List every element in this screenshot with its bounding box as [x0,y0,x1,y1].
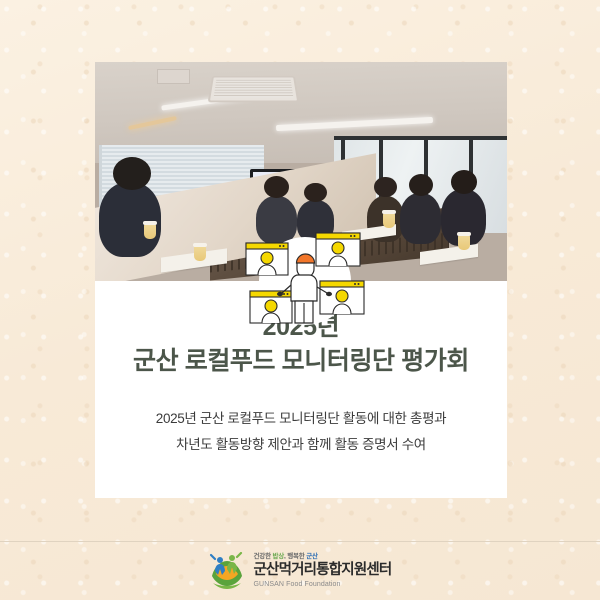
video-conference-illustration [240,225,370,325]
content-card: 2025년 군산 로컬푸드 모니터링단 평가회 2025년 군산 로컬푸드 모니… [95,62,507,498]
coffee-cup [383,213,395,228]
video-window-top-left [246,243,288,275]
logo-tagline-pre: 건강한 [254,553,273,560]
video-window-bottom-right [320,281,364,314]
gunsan-food-foundation-logo-icon [209,552,245,590]
logo-tagline-blue: 군산 [306,553,318,560]
attendee-head [264,176,289,198]
page-subtitle: 2025년 군산 로컬푸드 모니터링단 활동에 대한 총평과 차년도 활동방향 … [156,406,446,459]
coffee-cup [194,246,206,261]
ceiling-ac-diffuser [208,76,299,102]
logo-tagline: 건강한 밥상, 행복한 군산 [254,553,392,560]
video-window-top-right [316,233,360,266]
logo-tagline-green: 밥상 [272,553,284,560]
logo-tagline-mid: , 행복한 [284,553,306,560]
video-window-bottom-left [250,291,292,323]
coffee-cup [458,235,470,250]
attendee-head [113,157,151,190]
attendee-head [374,177,396,197]
logo-name-english: GUNSAN Food Foundation [254,581,392,589]
logo-text-group: 건강한 밥상, 행복한 군산 군산먹거리통합지원센터 GUNSAN Food F… [254,553,392,589]
poster-canvas: 2025년 군산 로컬푸드 모니터링단 평가회 2025년 군산 로컬푸드 모니… [0,0,600,600]
attendee-head [304,183,326,202]
attendee [99,182,161,256]
footer: 건강한 밥상, 행복한 군산 군산먹거리통합지원센터 GUNSAN Food F… [0,542,600,600]
ceiling-vent [157,69,190,84]
attendee-head [451,170,477,194]
attendee [400,193,441,243]
logo-name: 군산먹거리통합지원센터 [254,562,392,579]
coffee-cup [144,224,156,239]
